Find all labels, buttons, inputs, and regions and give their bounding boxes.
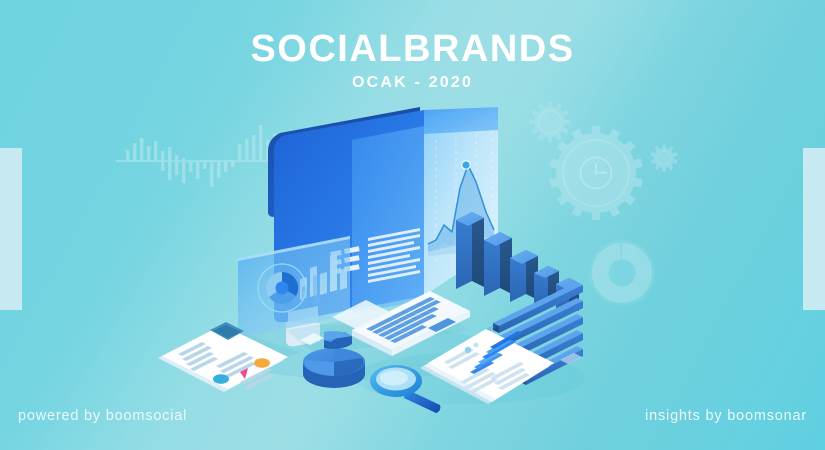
report-left-orange-ellipse [254, 358, 270, 368]
report-left-blue-ellipse [213, 374, 229, 384]
report-cover: 2015 2016 2017 2018 2019 [0, 0, 825, 450]
footer-powered-by: powered by boomsocial [18, 408, 187, 424]
page-subtitle: OCAK - 2020 [0, 74, 825, 92]
footer-insights-by: insights by boomsonar [645, 408, 807, 424]
chart-data-point [462, 161, 470, 169]
page-title: SOCIALBRANDS [0, 30, 825, 68]
